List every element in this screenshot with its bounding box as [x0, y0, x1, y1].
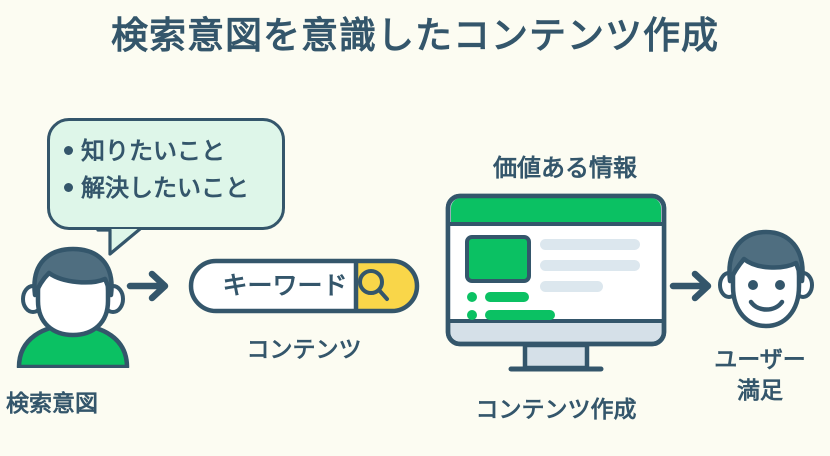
bullet-dot-icon [64, 146, 73, 155]
bubble-item-1: 知りたいこと [64, 133, 282, 170]
stage-label-content: コンテンツ [188, 330, 420, 364]
bullet-dot-icon [64, 183, 73, 192]
stage-label-user-line2: 満足 [690, 375, 830, 406]
speech-bubble: 知りたいこと 解決したいこと [47, 118, 285, 230]
bubble-item-1-label: 知りたいこと [81, 138, 225, 165]
page-title: 検索意図を意識したコンテンツ作成 [0, 14, 830, 58]
person-avatar-icon [13, 243, 133, 368]
desktop-monitor-icon [445, 193, 667, 373]
stage-label-user-line1: ユーザー [690, 344, 830, 375]
infographic-canvas: 検索意図を意識したコンテンツ作成 知りたいこと 解決したいこと 検索意図 [0, 0, 830, 456]
bubble-item-2-label: 解決したいこと [81, 175, 249, 202]
stage-label-user: ユーザー 満足 [690, 344, 830, 406]
bubble-item-2: 解決したいこと [64, 170, 282, 207]
smiling-face-icon [716, 228, 816, 333]
arrow-right-icon [126, 266, 176, 306]
search-input[interactable]: キーワード [205, 268, 365, 304]
arrow-right-icon [669, 266, 719, 306]
stage-label-intent: 検索意図 [6, 384, 146, 418]
caption-valuable-info: 価値ある情報 [440, 148, 690, 183]
stage-label-content-creation: コンテンツ作成 [440, 390, 672, 424]
